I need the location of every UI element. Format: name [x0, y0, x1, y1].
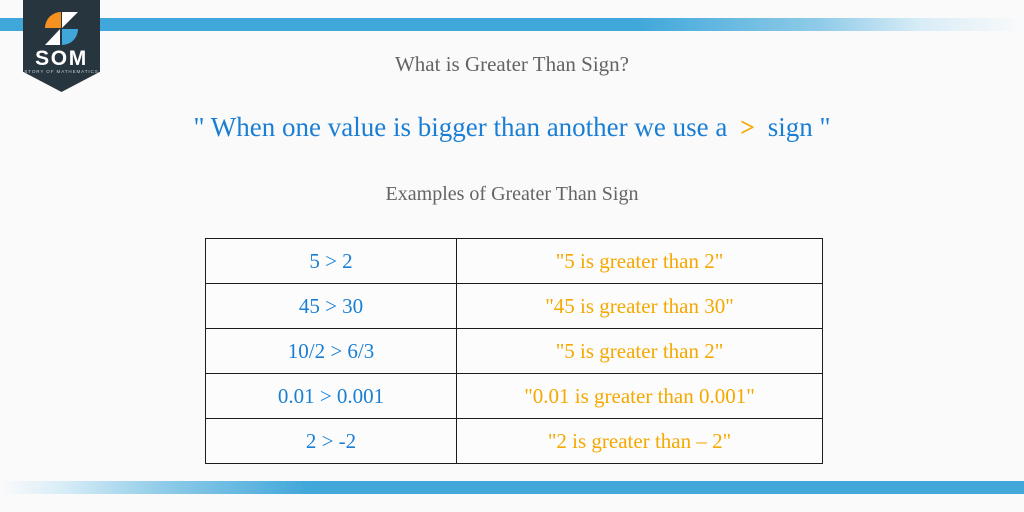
quote-close-mark: "	[819, 112, 830, 142]
definition-quote: " When one value is bigger than another …	[0, 112, 1024, 143]
examples-subtitle: Examples of Greater Than Sign	[0, 183, 1024, 206]
examples-table-body: 5 > 2 "5 is greater than 2" 45 > 30 "45 …	[206, 239, 823, 464]
page-title: What is Greater Than Sign?	[0, 52, 1024, 77]
quote-text-before: When one value is bigger than another we…	[211, 112, 728, 142]
meaning-cell: "5 is greater than 2"	[457, 239, 823, 284]
som-logo-badge: SOM STORY OF MATHEMATICS	[23, 0, 100, 92]
table-row: 2 > -2 "2 is greater than – 2"	[206, 419, 823, 464]
logo-tagline: STORY OF MATHEMATICS	[23, 70, 100, 75]
expression-cell: 5 > 2	[206, 239, 457, 284]
expression-cell: 0.01 > 0.001	[206, 374, 457, 419]
logo-wordmark: SOM	[23, 48, 100, 69]
som-emblem-icon	[42, 11, 81, 45]
expression-cell: 2 > -2	[206, 419, 457, 464]
meaning-cell: "0.01 is greater than 0.001"	[457, 374, 823, 419]
top-accent-stripe	[0, 18, 1024, 31]
expression-cell: 45 > 30	[206, 284, 457, 329]
table-row: 0.01 > 0.001 "0.01 is greater than 0.001…	[206, 374, 823, 419]
table-row: 5 > 2 "5 is greater than 2"	[206, 239, 823, 284]
greater-than-symbol: >	[734, 113, 761, 142]
quote-open-mark: "	[194, 112, 205, 142]
meaning-cell: "5 is greater than 2"	[457, 329, 823, 374]
bottom-accent-stripe	[0, 481, 1024, 494]
table-row: 45 > 30 "45 is greater than 30"	[206, 284, 823, 329]
expression-cell: 10/2 > 6/3	[206, 329, 457, 374]
table-row: 10/2 > 6/3 "5 is greater than 2"	[206, 329, 823, 374]
meaning-cell: "45 is greater than 30"	[457, 284, 823, 329]
examples-table: 5 > 2 "5 is greater than 2" 45 > 30 "45 …	[205, 238, 823, 464]
meaning-cell: "2 is greater than – 2"	[457, 419, 823, 464]
quote-text-after: sign	[768, 112, 813, 142]
